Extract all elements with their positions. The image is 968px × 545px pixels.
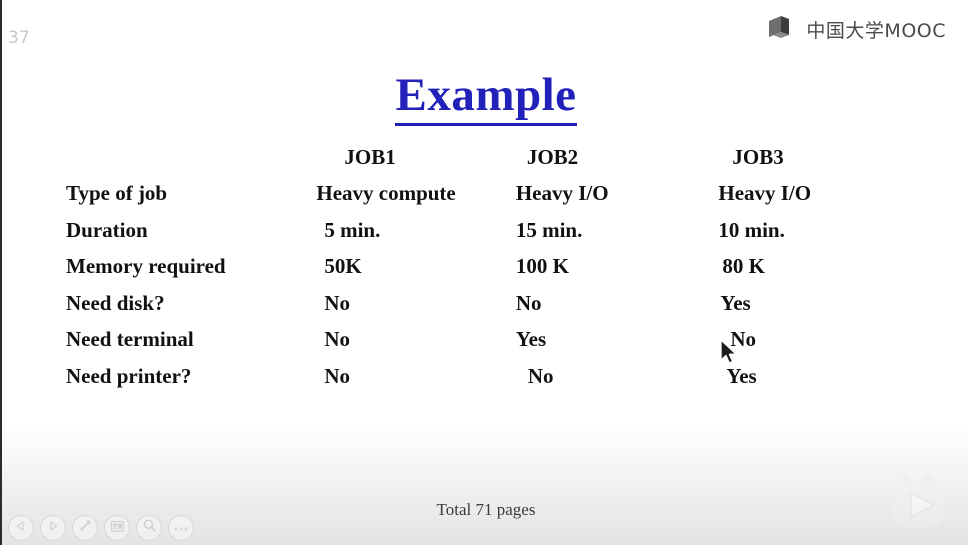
- row-label: Need terminal: [66, 322, 316, 359]
- cell-job1: No: [316, 358, 515, 395]
- row-label: Memory required: [66, 249, 316, 286]
- slides-grid-icon: [110, 519, 125, 538]
- cell-job1: No: [316, 285, 515, 322]
- pen-tool-button[interactable]: [72, 515, 98, 541]
- cell-job3: No: [718, 322, 926, 359]
- ellipsis-icon: [173, 519, 189, 537]
- row-label: Need printer?: [66, 358, 316, 395]
- mooc-book-icon: [769, 16, 799, 43]
- zoom-button[interactable]: [136, 515, 162, 541]
- watermark-page-number: 37: [8, 28, 30, 48]
- brand-name: 中国大学MOOC: [806, 16, 946, 43]
- player-control-bar[interactable]: [8, 515, 194, 541]
- column-header-job3: JOB3: [718, 139, 926, 176]
- slides-view-button[interactable]: [104, 515, 130, 541]
- next-slide-button[interactable]: [40, 515, 66, 541]
- page-title-text: Example: [395, 69, 576, 126]
- table-row: Duration 5 min. 15 min. 10 min.: [66, 212, 926, 249]
- cell-job1: No: [316, 322, 515, 359]
- column-header-job2: JOB2: [516, 139, 719, 176]
- cell-job3: 10 min.: [718, 212, 926, 249]
- cell-job2: 100 K: [516, 249, 719, 286]
- job-comparison-table: JOB1 JOB2 JOB3 Type of job Heavy compute…: [66, 139, 926, 395]
- cell-job2: No: [516, 285, 719, 322]
- page-title: Example: [2, 68, 968, 122]
- row-label: Need disk?: [66, 285, 316, 322]
- cell-job3: Yes: [718, 285, 926, 322]
- cell-job1: 50K: [316, 249, 515, 286]
- table-row: Need terminal No Yes No: [66, 322, 926, 359]
- table-row: Memory required 50K 100 K 80 K: [66, 249, 926, 286]
- video-player-screen: 中国大学MOOC Example JOB1 JOB2 JOB3 Type of …: [0, 0, 968, 545]
- cell-job3: Heavy I/O: [718, 176, 926, 213]
- triangle-right-icon: [47, 519, 59, 537]
- slide-content: Example JOB1 JOB2 JOB3 Type of job Heavy…: [2, 0, 968, 545]
- more-options-button[interactable]: [168, 515, 194, 541]
- row-label: Type of job: [66, 176, 316, 213]
- cell-job2: 15 min.: [516, 212, 719, 249]
- column-header-blank: [66, 139, 316, 176]
- youku-play-icon: [882, 461, 954, 533]
- triangle-left-icon: [15, 519, 27, 537]
- row-label: Duration: [66, 212, 316, 249]
- column-header-job1: JOB1: [316, 139, 515, 176]
- cell-job2: Heavy I/O: [516, 176, 719, 213]
- brand-logo: 中国大学MOOC: [769, 16, 946, 43]
- table-row: Type of job Heavy compute Heavy I/O Heav…: [66, 176, 926, 213]
- table-row: Need disk? No No Yes: [66, 285, 926, 322]
- table-header-row: JOB1 JOB2 JOB3: [66, 139, 926, 176]
- prev-slide-button[interactable]: [8, 515, 34, 541]
- cell-job1: 5 min.: [316, 212, 515, 249]
- table-row: Need printer? No No Yes: [66, 358, 926, 395]
- cell-job3: 80 K: [718, 249, 926, 286]
- pen-icon: [78, 518, 93, 538]
- cell-job1: Heavy compute: [316, 176, 515, 213]
- magnifier-icon: [142, 518, 157, 538]
- cell-job2: No: [516, 358, 719, 395]
- cell-job3: Yes: [718, 358, 926, 395]
- cell-job2: Yes: [516, 322, 719, 359]
